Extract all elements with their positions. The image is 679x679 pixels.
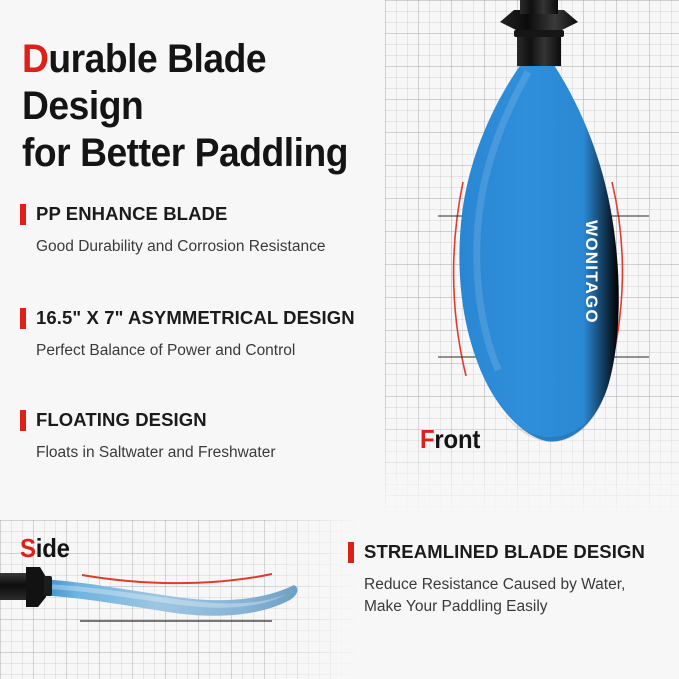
headline-accent-letter: D xyxy=(22,37,48,81)
feature-title: STREAMLINED BLADE DESIGN xyxy=(364,541,645,563)
side-label-accent: S xyxy=(20,533,36,563)
paddle-side-view-illustration xyxy=(0,555,340,665)
feature-heading-row: STREAMLINED BLADE DESIGN xyxy=(348,541,678,563)
headline-line1: urable Blade Design xyxy=(22,37,266,128)
feature-item-streamlined-blade-design: STREAMLINED BLADE DESIGN Reduce Resistan… xyxy=(348,541,678,618)
feature-heading-row: 16.5" X 7" ASYMMETRICAL DESIGN xyxy=(20,307,410,329)
bullet-marker-icon xyxy=(20,204,26,225)
feature-title: 16.5" X 7" ASYMMETRICAL DESIGN xyxy=(36,307,355,329)
headline-line2: for Better Paddling xyxy=(22,131,348,175)
feature-heading-row: PP ENHANCE BLADE xyxy=(20,203,410,225)
feature-item-pp-enhance-blade: PP ENHANCE BLADE Good Durability and Cor… xyxy=(20,203,410,258)
bullet-marker-icon xyxy=(20,410,26,431)
paddle-collar-ring xyxy=(514,30,564,37)
side-guide-curve xyxy=(82,574,272,583)
side-label-rest: ide xyxy=(36,533,70,563)
feature-title: FLOATING DESIGN xyxy=(36,409,207,431)
front-view-label: Front xyxy=(420,424,480,455)
feature-subtitle: Reduce Resistance Caused by Water, Make … xyxy=(364,574,678,618)
bullet-marker-icon xyxy=(348,542,354,563)
feature-item-asymmetrical-design: 16.5" X 7" ASYMMETRICAL DESIGN Perfect B… xyxy=(20,307,410,362)
front-label-rest: ront xyxy=(434,424,480,454)
page-title: Durable Blade Design for Better Paddling xyxy=(22,36,375,178)
feature-subtitle: Perfect Balance of Power and Control xyxy=(36,340,410,362)
feature-subtitle: Floats in Saltwater and Freshwater xyxy=(36,442,410,464)
side-collar-ring xyxy=(44,576,52,596)
paddle-front-view-illustration: WONITAGO xyxy=(400,0,679,470)
front-label-accent: F xyxy=(420,424,434,454)
side-view-label: Side xyxy=(20,533,70,564)
feature-subtitle-line2: Make Your Paddling Easily xyxy=(364,598,548,615)
blade-brand-text: WONITAGO xyxy=(582,220,601,324)
feature-title: PP ENHANCE BLADE xyxy=(36,203,227,225)
bullet-marker-icon xyxy=(20,308,26,329)
feature-subtitle-line1: Reduce Resistance Caused by Water, xyxy=(364,576,625,593)
feature-subtitle: Good Durability and Corrosion Resistance xyxy=(36,236,410,258)
feature-heading-row: FLOATING DESIGN xyxy=(20,409,410,431)
product-infographic: Durable Blade Design for Better Paddling… xyxy=(0,0,679,679)
side-paddle-ferrule xyxy=(26,567,46,607)
feature-item-floating-design: FLOATING DESIGN Floats in Saltwater and … xyxy=(20,409,410,464)
paddle-shaft-upper xyxy=(520,0,558,14)
